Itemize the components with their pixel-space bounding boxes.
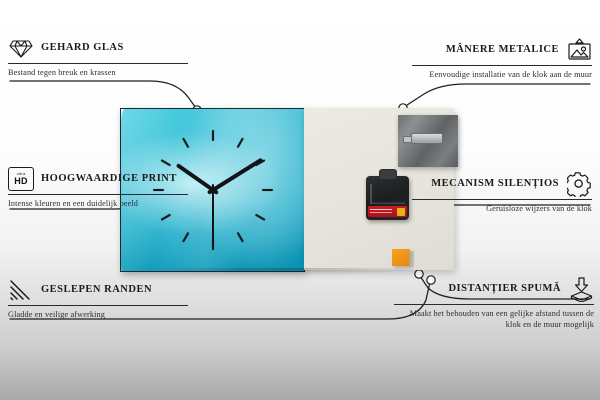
feature-description: Geruisloze wijzers van de klok xyxy=(412,203,592,214)
feature-description: Maakt het behouden van een gelijke afsta… xyxy=(394,308,594,330)
gear-icon xyxy=(566,172,592,196)
feature-title: GESLEPEN RANDEN xyxy=(41,283,152,296)
picture-frame-hook-icon xyxy=(566,38,592,62)
diamond-icon xyxy=(8,36,34,60)
feature-heading: MÂNERE METALICE xyxy=(412,38,592,62)
divider xyxy=(412,65,592,66)
foam-spacer-photo xyxy=(392,249,410,266)
feature-silent-mechanism: MECANISM SILENȚIOS Geruisloze wijzers va… xyxy=(412,172,592,214)
beveled-edges-icon xyxy=(8,278,34,302)
metal-hanger-photo xyxy=(398,115,458,167)
infographic-stage: GEHARD GLAS Bestand tegen breuk en krass… xyxy=(0,0,600,400)
arrow-down-stack-icon xyxy=(568,277,594,301)
feature-heading: GESLEPEN RANDEN xyxy=(8,278,188,302)
divider xyxy=(8,63,188,64)
feature-title: HOOGWAARDIGE PRINT xyxy=(41,172,177,185)
divider xyxy=(394,304,594,305)
divider xyxy=(412,199,592,200)
ultra-hd-icon: ultra HD xyxy=(8,167,34,191)
feature-description: Bestand tegen breuk en krassen xyxy=(8,67,188,78)
feature-heading: GEHARD GLAS xyxy=(8,36,188,60)
feature-heading: MECANISM SILENȚIOS xyxy=(412,172,592,196)
mechanism-shaft xyxy=(379,169,397,179)
feature-high-quality-print: ultra HD HOOGWAARDIGE PRINT Intense kleu… xyxy=(8,167,188,209)
feature-description: Eenvoudige installatie van de klok aan d… xyxy=(412,69,592,80)
feature-description: Gladde en veilige afwerking xyxy=(8,309,188,320)
feature-foam-spacer: DISTANȚIER SPUMĂ Maakt het behouden van … xyxy=(394,277,594,330)
feature-title: MÂNERE METALICE xyxy=(446,43,559,56)
divider xyxy=(8,194,188,195)
hd-label: HD xyxy=(14,177,27,186)
feature-title: DISTANȚIER SPUMĂ xyxy=(448,282,561,295)
product-shadow xyxy=(120,268,454,277)
hanger-hook xyxy=(411,133,443,144)
feature-heading: DISTANȚIER SPUMĂ xyxy=(394,277,594,301)
mechanism-label xyxy=(368,206,407,217)
mechanism-texture xyxy=(370,184,405,204)
feature-ground-edges: GESLEPEN RANDEN Gladde en veilige afwerk… xyxy=(8,278,188,320)
connector-line-tempered-glass xyxy=(10,81,196,108)
feature-description: Intense kleuren en een duidelijk beeld xyxy=(8,198,188,209)
feature-metal-handles: MÂNERE METALICE Eenvoudige installatie v… xyxy=(412,38,592,80)
feature-heading: ultra HD HOOGWAARDIGE PRINT xyxy=(8,167,188,191)
feature-tempered-glass: GEHARD GLAS Bestand tegen breuk en krass… xyxy=(8,36,188,78)
feature-title: MECANISM SILENȚIOS xyxy=(431,177,559,190)
divider xyxy=(8,305,188,306)
clock-mechanism-photo xyxy=(366,176,409,220)
connector-line-handles xyxy=(404,84,590,107)
feature-title: GEHARD GLAS xyxy=(41,41,124,54)
